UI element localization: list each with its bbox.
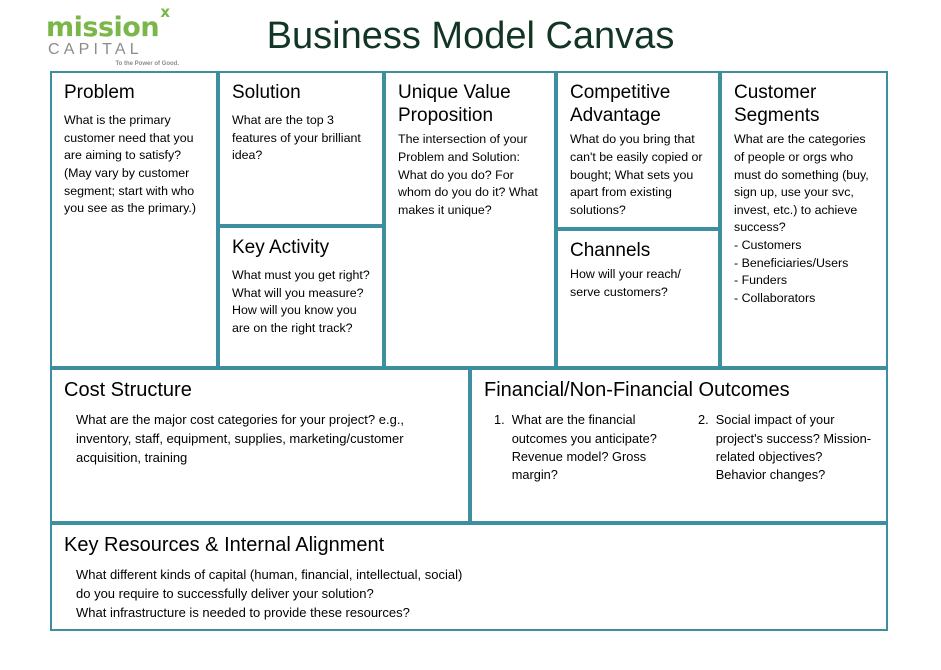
- list-item: - Customers: [734, 237, 876, 255]
- page-title: Business Model Canvas: [0, 16, 941, 58]
- cell-body-channels: How will your reach/ serve customers?: [570, 266, 708, 301]
- canvas-cell-unique-value-proposition[interactable]: Unique Value Proposition The intersectio…: [384, 71, 556, 368]
- cell-title-unique-value-proposition: Unique Value Proposition: [398, 81, 544, 127]
- canvas-cell-key-resources-internal-alignment[interactable]: Key Resources & Internal Alignment What …: [50, 523, 888, 631]
- logo-tagline: To the Power of Good.: [46, 61, 179, 67]
- canvas-cell-customer-segments[interactable]: Customer Segments What are the categorie…: [720, 71, 888, 368]
- cell-body-competitive-advantage: What do you bring that can't be easily c…: [570, 131, 708, 219]
- cell-title-problem: Problem: [64, 81, 206, 104]
- cell-body-unique-value-proposition: The intersection of your Problem and Sol…: [398, 131, 544, 219]
- cell-title-channels: Channels: [570, 239, 708, 262]
- cell-title-outcomes: Financial/Non-Financial Outcomes: [484, 378, 876, 402]
- outcome-text: Social impact of your project's success?…: [716, 411, 876, 484]
- list-item: - Funders: [734, 272, 876, 290]
- cell-body-customer-segments: What are the categories of people or org…: [734, 131, 876, 237]
- canvas-cell-financial-nonfinancial-outcomes[interactable]: Financial/Non-Financial Outcomes 1. What…: [470, 368, 888, 523]
- canvas-cell-solution[interactable]: Solution What are the top 3 features of …: [218, 71, 384, 226]
- cell-title-key-resources: Key Resources & Internal Alignment: [64, 533, 876, 557]
- canvas-cell-channels[interactable]: Channels How will your reach/ serve cust…: [556, 229, 720, 368]
- cell-body-solution: What are the top 3 features of your bril…: [232, 112, 372, 165]
- cell-title-customer-segments: Customer Segments: [734, 81, 876, 127]
- business-model-canvas-grid: Problem What is the primary customer nee…: [50, 71, 888, 631]
- cell-body-cost-structure: What are the major cost categories for y…: [64, 411, 458, 468]
- outcome-number: 1.: [494, 411, 505, 484]
- canvas-cell-cost-structure[interactable]: Cost Structure What are the major cost c…: [50, 368, 470, 523]
- cell-body-key-resources: What different kinds of capital (human, …: [64, 566, 876, 623]
- outcome-text: What are the financial outcomes you anti…: [512, 411, 672, 484]
- canvas-cell-key-activity[interactable]: Key Activity What must you get right? Wh…: [218, 226, 384, 368]
- outcomes-columns: 1. What are the financial outcomes you a…: [484, 411, 876, 484]
- cell-body-problem: What is the primary customer need that y…: [64, 112, 206, 218]
- canvas-cell-competitive-advantage[interactable]: Competitive Advantage What do you bring …: [556, 71, 720, 229]
- list-item: - Collaborators: [734, 290, 876, 308]
- page-header: mission x CAPITAL To the Power of Good. …: [0, 0, 941, 68]
- list-item: 1. What are the financial outcomes you a…: [494, 411, 672, 484]
- list-item: 2. Social impact of your project's succe…: [698, 411, 876, 484]
- cell-title-solution: Solution: [232, 81, 372, 104]
- list-item: - Beneficiaries/Users: [734, 255, 876, 273]
- customer-segments-list: - Customers - Beneficiaries/Users - Fund…: [734, 237, 876, 307]
- cell-title-key-activity: Key Activity: [232, 236, 372, 259]
- cell-title-competitive-advantage: Competitive Advantage: [570, 81, 708, 127]
- cell-body-key-activity: What must you get right? What will you m…: [232, 267, 372, 337]
- canvas-cell-problem[interactable]: Problem What is the primary customer nee…: [50, 71, 218, 368]
- outcome-number: 2.: [698, 411, 709, 484]
- cell-title-cost-structure: Cost Structure: [64, 378, 458, 402]
